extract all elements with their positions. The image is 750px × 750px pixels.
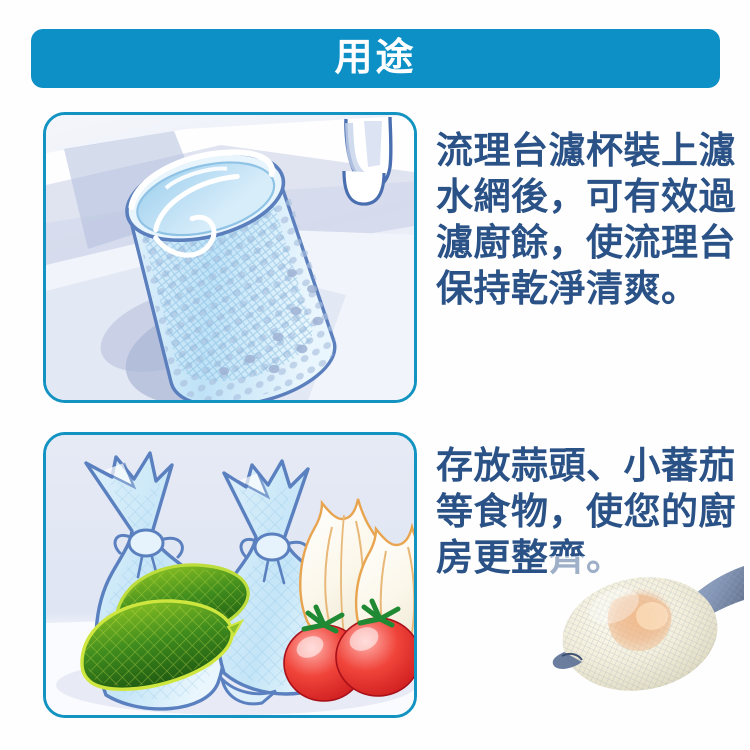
page-title: 用途 [334, 39, 416, 77]
mesh-bags-svg [46, 435, 414, 715]
illustration-panel-sink-strainer [43, 112, 417, 403]
description-sink-strainer: 流理台濾杯裝上濾水網後，可有效過濾廚餘，使流理台保持乾淨清爽。 [436, 128, 736, 312]
illustration-panel-food-storage [43, 432, 417, 718]
sink-strainer-svg [46, 115, 414, 400]
onion-in-mesh-bag-photo [548, 556, 744, 704]
header-banner: 用途 [31, 29, 720, 88]
page-root: 用途 [0, 0, 750, 750]
onion-photo-svg [548, 556, 744, 704]
mesh-bags-illustration [46, 435, 414, 715]
sink-strainer-illustration [46, 115, 414, 400]
